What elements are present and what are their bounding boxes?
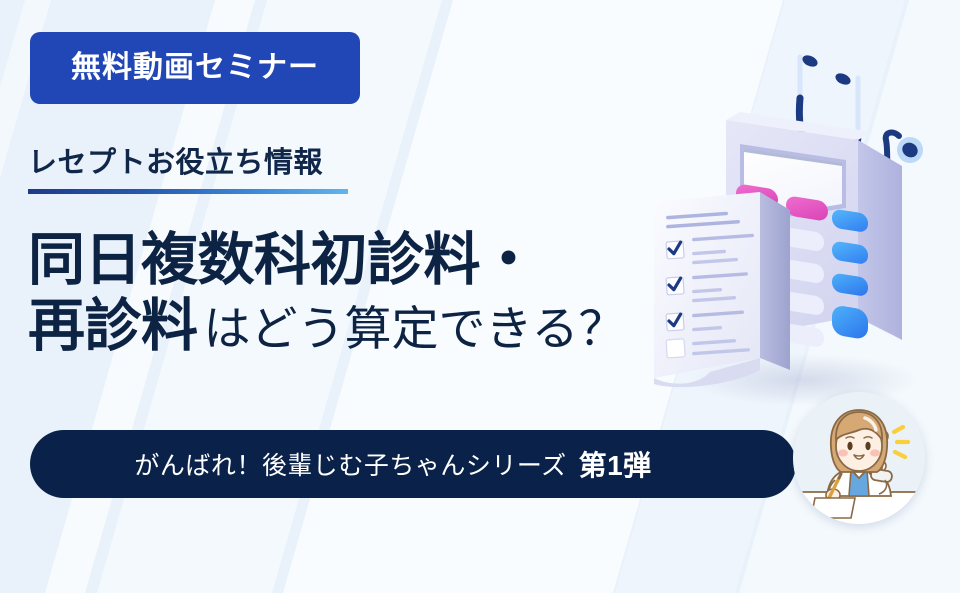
headline-line-2: 再診料はどう算定できる？: [28, 294, 626, 358]
seminar-banner: 無料動画セミナー レセプトお役立ち情報 同日複数科初診料・ 再診料はどう算定でき…: [0, 0, 960, 593]
free-seminar-badge-label: 無料動画セミナー: [71, 53, 319, 83]
checklist-document: [654, 192, 790, 387]
kicker-text: レセプトお役立ち情報: [28, 148, 358, 180]
character-badge: [793, 392, 925, 524]
kicker-block: レセプトお役立ち情報: [28, 148, 358, 194]
headline-emphasis: 再診料: [28, 294, 198, 358]
checkbox-unchecked: [666, 339, 685, 358]
headline-line-1: 同日複数科初診料・: [28, 228, 626, 292]
headline-question: はどう算定できる？: [204, 302, 626, 355]
medical-billing-illustration: [640, 40, 960, 420]
jimuko-character-icon: [793, 392, 925, 524]
series-volume: 第1弾: [579, 444, 652, 484]
series-title: がんばれ！後輩じむ子ちゃんシリーズ: [134, 446, 566, 482]
kicker-underline: [28, 189, 348, 194]
page-title: 同日複数科初診料・ 再診料はどう算定できる？: [28, 228, 626, 359]
free-seminar-badge[interactable]: 無料動画セミナー: [30, 32, 360, 104]
series-banner: がんばれ！後輩じむ子ちゃんシリーズ 第1弾: [30, 430, 796, 498]
